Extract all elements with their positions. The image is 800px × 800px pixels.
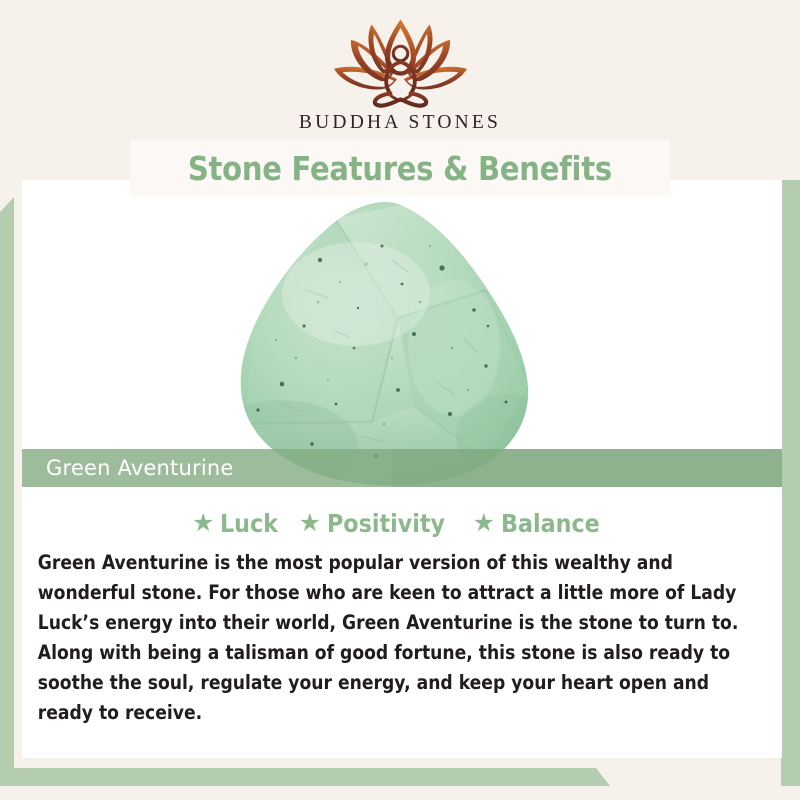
stone-name-bar: Green Aventurine (22, 449, 782, 487)
benefit-item-positivity: ★ Positivity (299, 509, 460, 538)
page-title: Stone Features & Benefits (188, 149, 612, 188)
title-banner: Stone Features & Benefits (130, 140, 670, 196)
benefit-label: Balance (501, 509, 600, 538)
description-section: ★ Luck ★ Positivity ★ Balance Green Aven… (22, 487, 782, 758)
description-text: Green Aventurine is the most popular ver… (36, 548, 770, 728)
brand-name: BUDDHA STONES (299, 112, 501, 134)
star-icon: ★ (473, 511, 495, 536)
benefit-item-balance: ★ Balance (473, 509, 612, 538)
name-bar-background-fade (392, 449, 782, 487)
star-icon: ★ (192, 511, 214, 536)
buddha-stones-logo (313, 16, 488, 108)
star-icon: ★ (299, 511, 321, 536)
tumbled-stone-illustration (186, 198, 591, 488)
bottom-green-band (0, 768, 610, 786)
green-aventurine-stone-image (186, 198, 591, 488)
stone-name-label: Green Aventurine (46, 456, 234, 480)
benefit-label: Positivity (327, 509, 445, 538)
benefit-label: Luck (220, 509, 278, 538)
benefit-item-luck: ★ Luck (192, 509, 286, 538)
lotus-meditation-figure-icon (313, 16, 488, 108)
left-green-band (0, 197, 14, 786)
benefits-list: ★ Luck ★ Positivity ★ Balance (36, 509, 768, 538)
